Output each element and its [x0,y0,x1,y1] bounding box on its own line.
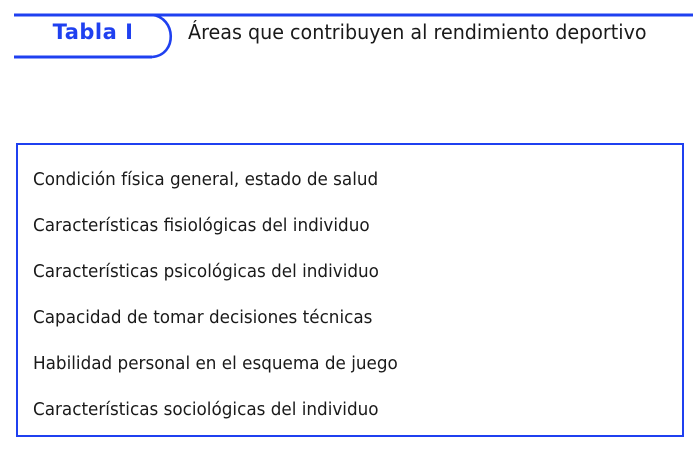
list-item: Condición física general, estado de salu… [33,157,648,203]
table-body-box: Condición física general, estado de salu… [16,143,684,437]
table-caption-header: Tabla I Áreas que contribuyen al rendimi… [0,0,700,76]
list-item: Características sociológicas del individ… [33,387,648,433]
list-item: Características psicológicas del individ… [33,249,648,295]
contributing-areas-list: Condición física general, estado de salu… [33,157,674,433]
table-caption-title: Áreas que contribuyen al rendimiento dep… [188,18,647,46]
table-number-label: Tabla I [38,19,148,45]
list-item: Características fisiológicas del individ… [33,203,648,249]
list-item: Capacidad de tomar decisiones técnicas [33,295,648,341]
list-item: Habilidad personal en el esquema de jueg… [33,341,648,387]
